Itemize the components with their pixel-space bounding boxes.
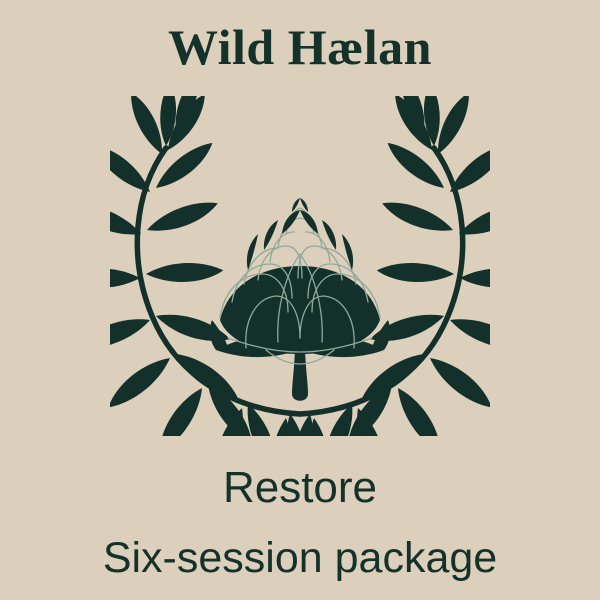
brand-card: Wild Hælan [0, 0, 600, 600]
package-label: Six-session package [0, 533, 600, 583]
laurel-branch-left [110, 96, 311, 436]
service-name: Restore [0, 462, 600, 514]
artichoke-laurel-wreath-emblem [110, 96, 490, 436]
page-title: Wild Hælan [0, 18, 600, 76]
artichoke-flower-icon [210, 198, 390, 401]
laurel-branch-right [289, 96, 490, 436]
